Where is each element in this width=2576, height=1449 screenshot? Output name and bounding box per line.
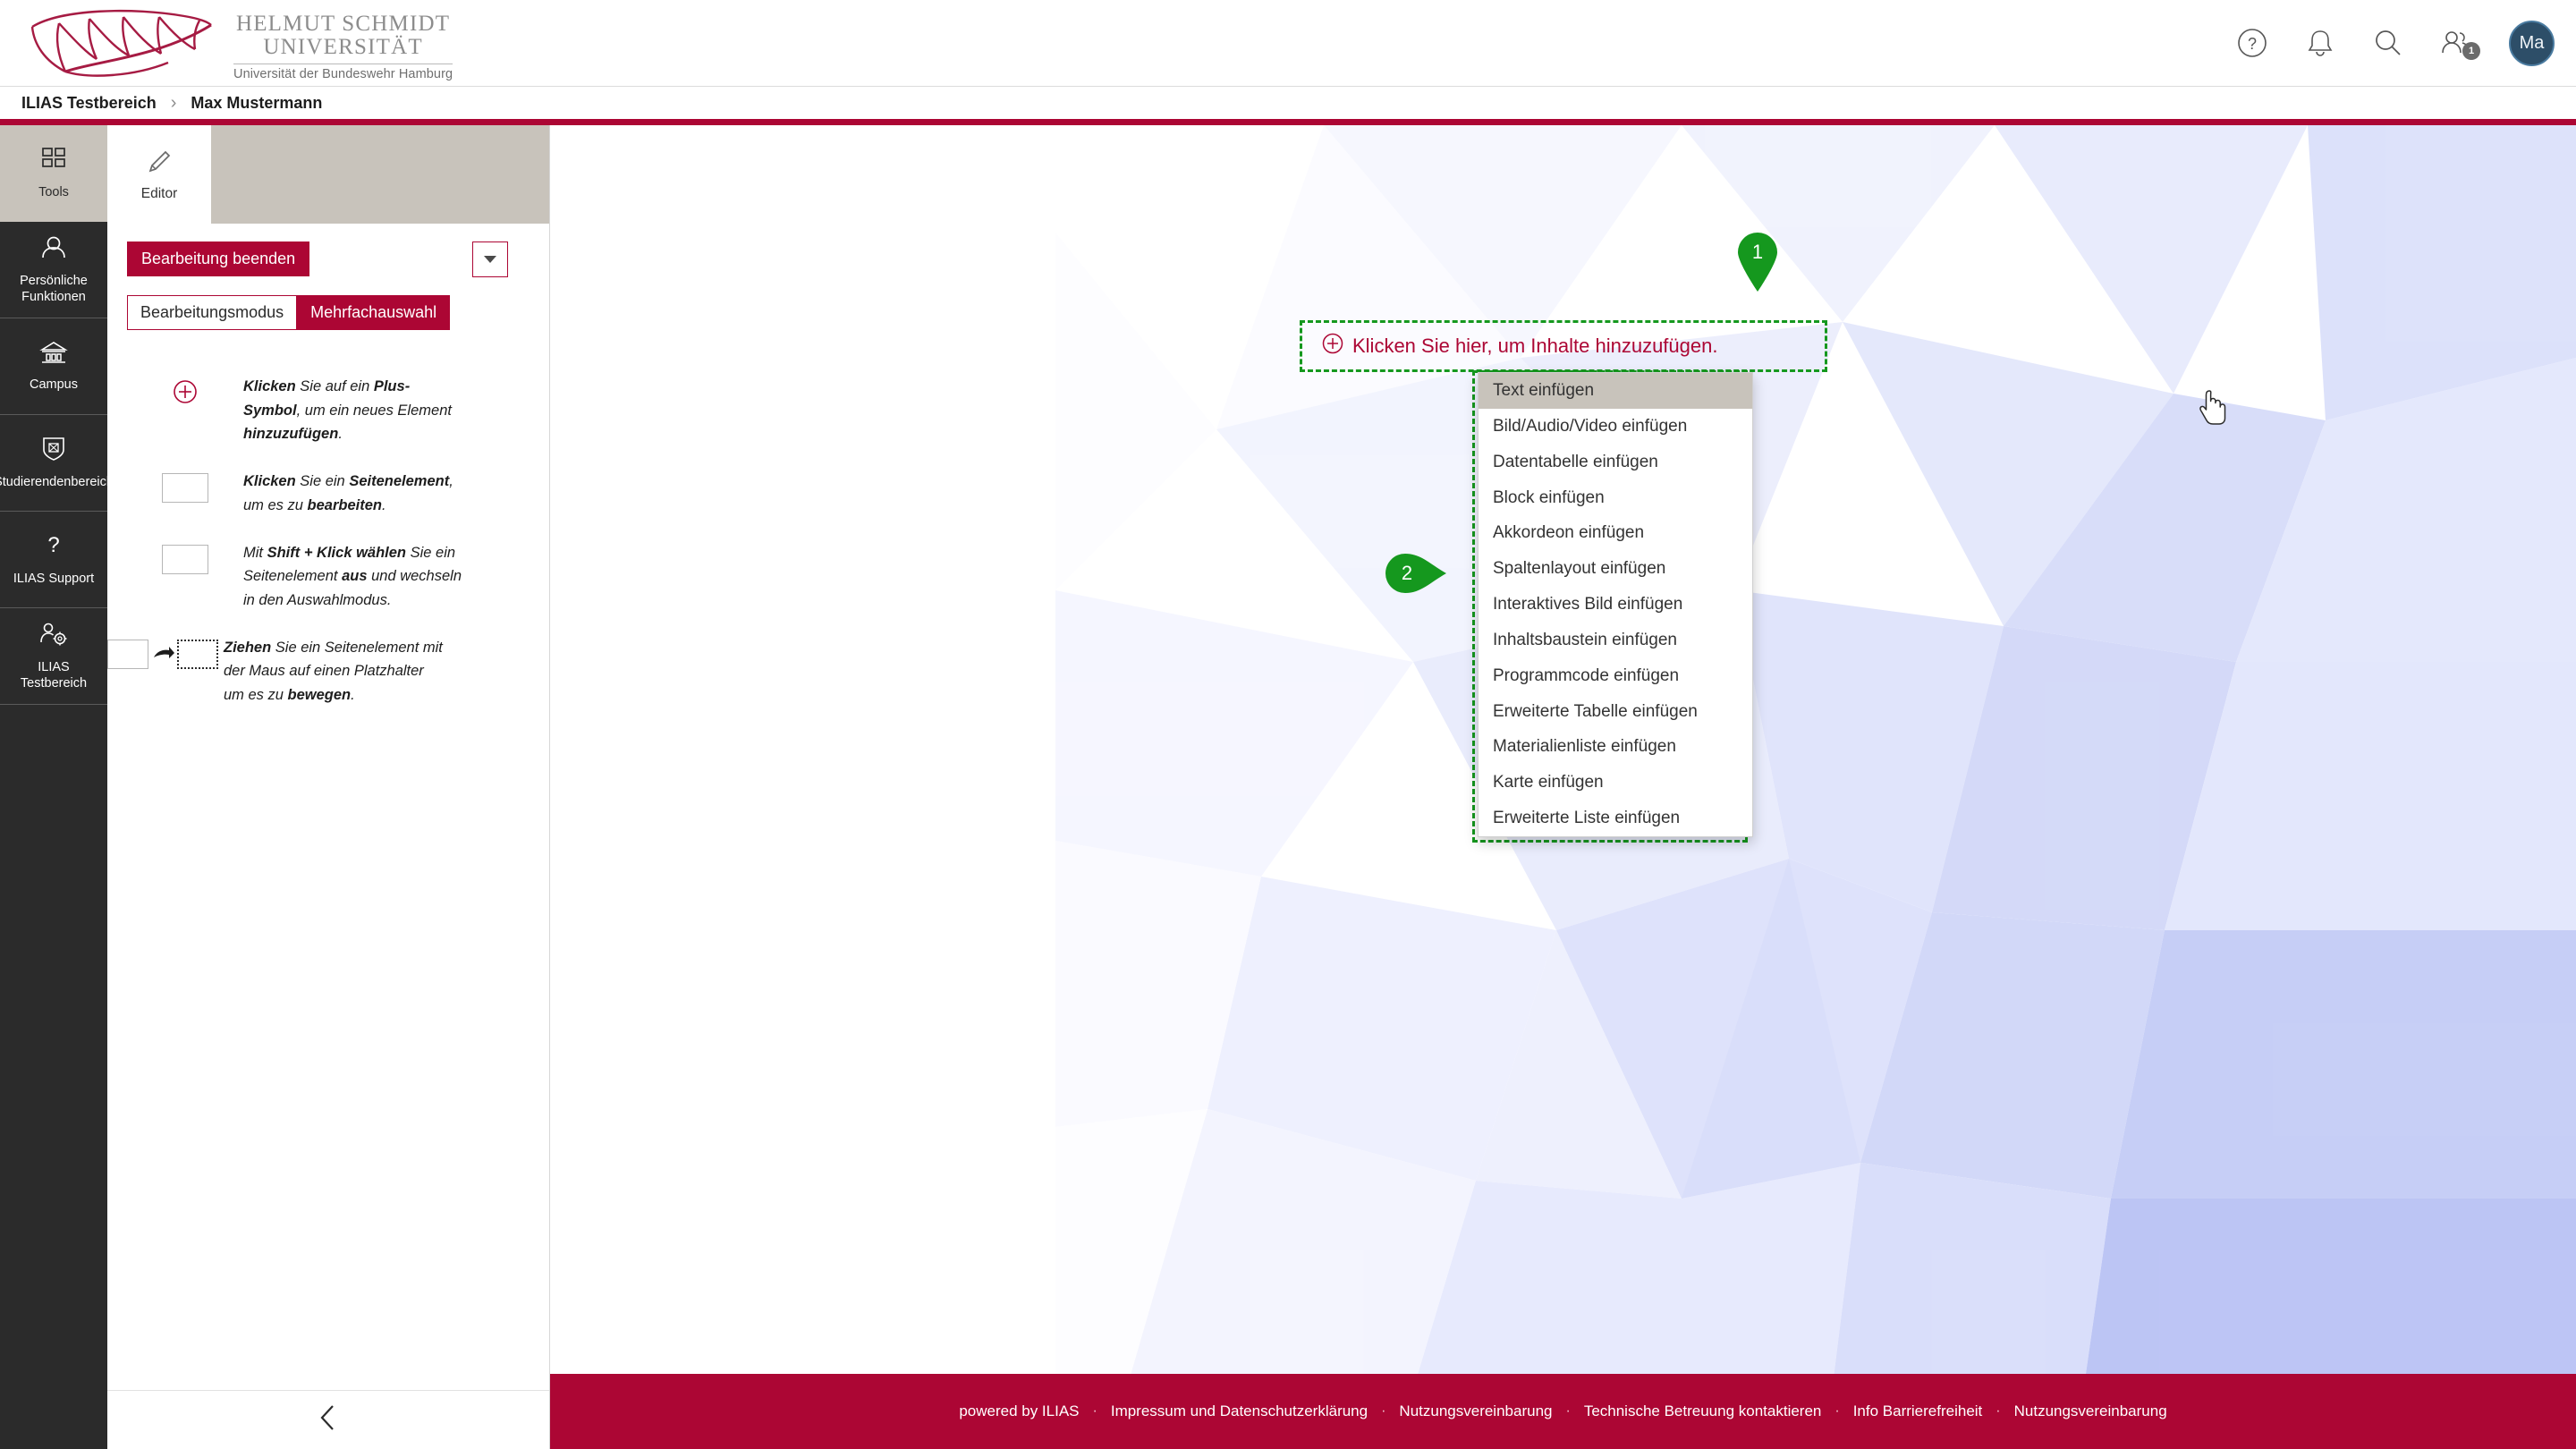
help-text: Klicken Sie ein Seitenelement, um es zu …	[243, 470, 467, 517]
editor-slate-panel: Editor Bearbeitung beenden Bearbeitungsm…	[107, 125, 550, 1449]
page-content-area: 1 Klicken Sie hier, um Inhalte hinzuzufü…	[550, 125, 2576, 1449]
plus-circle-icon	[1322, 333, 1343, 360]
tab-editor-label: Editor	[141, 186, 178, 202]
sidebar-item-ilias-support[interactable]: ? ILIAS Support	[0, 512, 107, 608]
breadcrumb-item-root[interactable]: ILIAS Testbereich	[21, 94, 157, 113]
bank-icon	[39, 340, 68, 369]
menu-item-text-einfuegen[interactable]: Text einfügen	[1479, 373, 1752, 409]
menu-item-erweiterte-tabelle-einfuegen[interactable]: Erweiterte Tabelle einfügen	[1479, 694, 1752, 730]
sidebar-item-ilias-testbereich[interactable]: ILIAS Testbereich	[0, 608, 107, 705]
sidebar-item-persoenliche-funktionen-label: Persönliche Funktionen	[5, 274, 102, 305]
help-row: Klicken Sie ein Seitenelement, um es zu …	[127, 470, 530, 517]
contacts-icon[interactable]: 1	[2436, 22, 2477, 64]
menu-item-block-einfuegen[interactable]: Block einfügen	[1479, 480, 1752, 516]
add-content-label: Klicken Sie hier, um Inhalte hinzuzufüge…	[1352, 335, 1717, 358]
avatar[interactable]: Ma	[2509, 21, 2555, 66]
drag-boxes-icon	[107, 636, 224, 708]
slate-tab-row: Editor	[107, 125, 549, 224]
sidebar-item-campus-label: Campus	[30, 377, 78, 393]
logo-subtitle: Universität der Bundeswehr Hamburg	[233, 67, 453, 81]
header-tools: ? 1 Ma	[2232, 0, 2555, 86]
slate-collapse-button[interactable]	[107, 1390, 549, 1449]
menu-item-interaktives-bild-einfuegen[interactable]: Interaktives Bild einfügen	[1479, 587, 1752, 623]
footer-link-impressum[interactable]: Impressum und Datenschutzerklärung	[1111, 1402, 1368, 1420]
menu-item-inhaltsbaustein-einfuegen[interactable]: Inhaltsbaustein einfügen	[1479, 623, 1752, 658]
help-row: Ziehen Sie ein Seitenelement mit der Mau…	[127, 636, 530, 708]
help-text: Mit Shift + Klick wählen Sie ein Seitene…	[243, 541, 467, 613]
svg-text:?: ?	[47, 533, 59, 557]
shield-icon	[41, 436, 66, 467]
menu-item-programmcode-einfuegen[interactable]: Programmcode einfügen	[1479, 658, 1752, 694]
help-row: Mit Shift + Klick wählen Sie ein Seitene…	[127, 541, 530, 613]
add-content-label-wrap: Klicken Sie hier, um Inhalte hinzuzufüge…	[1322, 333, 1717, 360]
breadcrumb: ILIAS Testbereich › Max Mustermann	[0, 87, 2576, 119]
help-row: Klicken Sie auf ein Plus-Symbol, um ein …	[127, 375, 530, 446]
menu-item-karte-einfuegen[interactable]: Karte einfügen	[1479, 765, 1752, 801]
footer-separator: ·	[1093, 1403, 1097, 1419]
hsu-logo-icon	[25, 7, 217, 80]
breadcrumb-separator-icon: ›	[171, 93, 177, 114]
page-footer: powered by ILIAS · Impressum und Datensc…	[550, 1374, 2576, 1449]
footer-separator: ·	[1565, 1403, 1570, 1419]
logo-line-2: UNIVERSITÄT	[233, 36, 453, 59]
logo-line-1: HELMUT SCHMIDT	[233, 13, 453, 36]
sidebar-item-ilias-testbereich-label: ILIAS Testbereich	[5, 660, 102, 691]
grid-icon	[40, 146, 67, 177]
menu-item-spaltenlayout-einfuegen[interactable]: Spaltenlayout einfügen	[1479, 551, 1752, 587]
help-text: Klicken Sie auf ein Plus-Symbol, um ein …	[243, 375, 467, 446]
slate-body: Bearbeitung beenden Bearbeitungsmodus Me…	[107, 224, 549, 708]
sidebar-item-studierendenbereich[interactable]: Studierendenbereich	[0, 415, 107, 512]
callout-marker-1-number: 1	[1736, 241, 1779, 264]
plus-circle-icon	[127, 375, 243, 446]
tab-bearbeitungsmodus[interactable]: Bearbeitungsmodus	[127, 295, 297, 330]
menu-item-bild-audio-video-einfuegen[interactable]: Bild/Audio/Video einfügen	[1479, 409, 1752, 445]
sidebar-item-persoenliche-funktionen[interactable]: Persönliche Funktionen	[0, 222, 107, 318]
chevron-down-icon	[484, 256, 496, 263]
search-icon[interactable]	[2368, 22, 2409, 64]
menu-item-erweiterte-liste-einfuegen[interactable]: Erweiterte Liste einfügen	[1479, 801, 1752, 836]
sidebar-item-campus[interactable]: Campus	[0, 318, 107, 415]
footer-separator: ·	[1381, 1403, 1385, 1419]
callout-marker-1: 1	[1736, 233, 1779, 292]
box-icon	[127, 470, 243, 517]
insert-element-dropdown: Text einfügen Bild/Audio/Video einfügen …	[1478, 372, 1753, 837]
brand-accent-bar	[0, 119, 2576, 125]
person-gear-icon	[38, 621, 69, 652]
notifications-bell-icon[interactable]	[2300, 22, 2341, 64]
logo-wordmark: HELMUT SCHMIDT UNIVERSITÄT Universität d…	[233, 7, 453, 81]
help-icon[interactable]: ?	[2232, 22, 2273, 64]
svg-text:?: ?	[2248, 35, 2257, 53]
help-text: Ziehen Sie ein Seitenelement mit der Mau…	[224, 636, 447, 708]
menu-item-akkordeon-einfuegen[interactable]: Akkordeon einfügen	[1479, 515, 1752, 551]
footer-separator: ·	[1996, 1403, 2000, 1419]
footer-separator: ·	[1835, 1403, 1839, 1419]
finish-editing-button[interactable]: Bearbeitung beenden	[127, 241, 309, 276]
pencil-icon	[145, 148, 174, 181]
tab-editor[interactable]: Editor	[107, 125, 211, 224]
footer-link-nutzungsvereinbarung-2[interactable]: Nutzungsvereinbarung	[2014, 1402, 2167, 1420]
footer-link-powered-by-ilias[interactable]: powered by ILIAS	[959, 1402, 1079, 1420]
editor-help-list: Klicken Sie auf ein Plus-Symbol, um ein …	[127, 375, 530, 708]
page-header: HELMUT SCHMIDT UNIVERSITÄT Universität d…	[0, 0, 2576, 87]
footer-link-info-barrierefreiheit[interactable]: Info Barrierefreiheit	[1853, 1402, 1983, 1420]
sidebar-item-ilias-support-label: ILIAS Support	[13, 572, 94, 587]
sidebar-item-tools[interactable]: Tools	[0, 125, 107, 222]
tab-mehrfachauswahl[interactable]: Mehrfachauswahl	[297, 295, 450, 330]
chevron-left-icon	[317, 1402, 340, 1437]
callout-marker-2-number: 2	[1385, 562, 1428, 585]
callout-marker-2: 2	[1384, 552, 1448, 595]
question-icon: ?	[42, 532, 65, 563]
footer-link-technische-betreuung[interactable]: Technische Betreuung kontaktieren	[1584, 1402, 1822, 1420]
add-content-placeholder[interactable]: Klicken Sie hier, um Inhalte hinzuzufüge…	[1300, 320, 1827, 372]
sidebar-item-studierendenbereich-label: Studierendenbereich	[0, 475, 114, 490]
contacts-badge: 1	[2462, 42, 2480, 60]
person-icon	[39, 234, 68, 266]
logo-divider	[233, 64, 453, 64]
box-icon	[127, 541, 243, 613]
main-navigation: Tools Persönliche Funktionen Campus Stud…	[0, 125, 107, 1449]
mode-segmented-control: Bearbeitungsmodus Mehrfachauswahl	[127, 295, 529, 330]
menu-item-datentabelle-einfuegen[interactable]: Datentabelle einfügen	[1479, 445, 1752, 480]
editor-options-dropdown-button[interactable]	[472, 241, 508, 277]
university-logo[interactable]: HELMUT SCHMIDT UNIVERSITÄT Universität d…	[25, 7, 453, 81]
footer-link-nutzungsvereinbarung[interactable]: Nutzungsvereinbarung	[1399, 1402, 1552, 1420]
breadcrumb-item-current: Max Mustermann	[191, 94, 322, 113]
menu-item-materialienliste-einfuegen[interactable]: Materialienliste einfügen	[1479, 729, 1752, 765]
sidebar-item-tools-label: Tools	[38, 185, 69, 200]
